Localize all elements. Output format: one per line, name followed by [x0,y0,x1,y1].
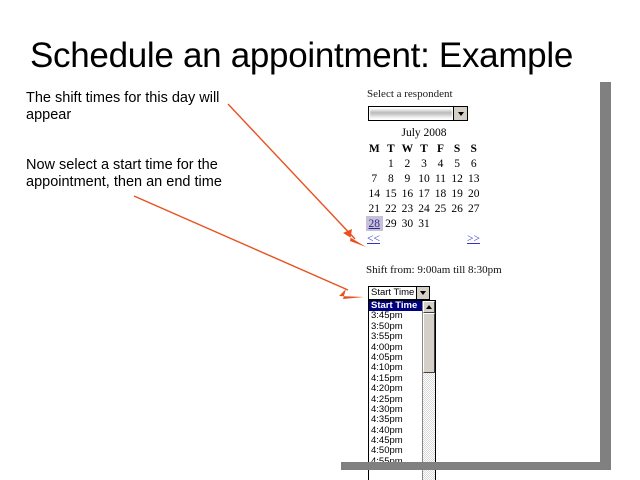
calendar-day[interactable]: 8 [383,171,400,186]
calendar-day[interactable]: 31 [416,216,433,231]
calendar-day[interactable]: 26 [449,201,466,216]
triangle-up-icon[interactable] [423,301,435,313]
calendar-day[interactable]: 6 [465,156,482,171]
calendar-weekday: S [449,141,466,156]
calendar-day[interactable]: 27 [465,201,482,216]
page-title: Schedule an appointment: Example [30,36,620,76]
shift-hours-text: Shift from: 9:00am till 8:30pm [366,264,502,276]
calendar-day[interactable]: 11 [432,171,449,186]
panel-shadow-bottom [341,462,611,470]
scrollbar-thumb[interactable] [423,313,435,373]
calendar-day[interactable] [465,216,482,231]
calendar-weekday: W [399,141,416,156]
calendar-next-link[interactable]: >> [467,233,480,245]
calendar-day-selected[interactable]: 28 [366,216,383,231]
embedded-screenshot-panel: Select a respondent July 2008 M T W T F … [330,82,614,467]
calendar-day[interactable]: 2 [399,156,416,171]
calendar-day[interactable]: 18 [432,186,449,201]
chevron-down-icon[interactable] [416,287,429,299]
calendar-day[interactable]: 24 [416,201,433,216]
time-option-container: Start Time3:45pm3:50pm3:55pm4:00pm4:05pm… [369,301,422,480]
calendar-month-title: July 2008 [366,127,482,141]
calendar-table: M T W T F S S 1 2 3 4 [366,141,482,231]
calendar-weekday: M [366,141,383,156]
respondent-label: Select a respondent [367,88,453,100]
calendar-week-row: 21 22 23 24 25 26 27 [366,201,482,216]
time-option[interactable]: 3:55pm [369,332,422,342]
calendar-week-row: 14 15 16 17 18 19 20 [366,186,482,201]
calendar-day[interactable] [432,216,449,231]
annotation-shift-times: The shift times for this day will appear [26,90,261,124]
calendar-week-row: 1 2 3 4 5 6 [366,156,482,171]
calendar-weekday: T [383,141,400,156]
slide-canvas: Schedule an appointment: Example The shi… [0,0,640,480]
calendar-day[interactable]: 4 [432,156,449,171]
calendar-nav: << >> [366,233,482,249]
calendar-day[interactable]: 16 [399,186,416,201]
calendar-day[interactable]: 21 [366,201,383,216]
calendar-day[interactable] [449,216,466,231]
calendar-weekday: F [432,141,449,156]
respondent-selected-value [370,108,452,119]
calendar-day[interactable]: 25 [432,201,449,216]
calendar-day[interactable]: 13 [465,171,482,186]
calendar-day[interactable]: 19 [449,186,466,201]
calendar-day[interactable]: 29 [383,216,400,231]
respondent-select[interactable] [368,106,468,121]
triangle-glyph [420,291,426,295]
calendar-day[interactable]: 22 [383,201,400,216]
calendar-day[interactable]: 17 [416,186,433,201]
calendar-day[interactable]: 9 [399,171,416,186]
start-time-dropdown-list[interactable]: Start Time3:45pm3:50pm3:55pm4:00pm4:05pm… [368,300,436,480]
triangle-glyph [426,305,432,309]
listbox-scrollbar[interactable] [422,301,435,480]
calendar-day[interactable]: 1 [383,156,400,171]
start-time-selected-value: Start Time [369,287,416,299]
calendar-day[interactable]: 12 [449,171,466,186]
calendar-weekday-row: M T W T F S S [366,141,482,156]
start-time-select[interactable]: Start Time [368,286,430,300]
triangle-glyph [458,112,464,116]
calendar-week-row: 7 8 9 10 11 12 13 [366,171,482,186]
calendar-prev-link[interactable]: << [367,233,380,245]
calendar-day[interactable]: 5 [449,156,466,171]
calendar-day[interactable]: 30 [399,216,416,231]
calendar-day[interactable]: 3 [416,156,433,171]
calendar-day[interactable]: 10 [416,171,433,186]
time-option[interactable]: 4:20pm [369,384,422,394]
calendar-day[interactable]: 7 [366,171,383,186]
calendar-day[interactable] [366,156,383,171]
annotation-select-start-time: Now select a start time for the appointm… [26,157,261,191]
calendar-day[interactable]: 23 [399,201,416,216]
calendar-week-row: 28 29 30 31 [366,216,482,231]
chevron-down-icon[interactable] [453,107,467,120]
calendar-widget: July 2008 M T W T F S S [366,127,482,249]
calendar-weekday: S [465,141,482,156]
calendar-weekday: T [416,141,433,156]
calendar-day[interactable]: 15 [383,186,400,201]
calendar-day[interactable]: 14 [366,186,383,201]
calendar-day[interactable]: 20 [465,186,482,201]
panel-shadow-right [600,82,611,470]
